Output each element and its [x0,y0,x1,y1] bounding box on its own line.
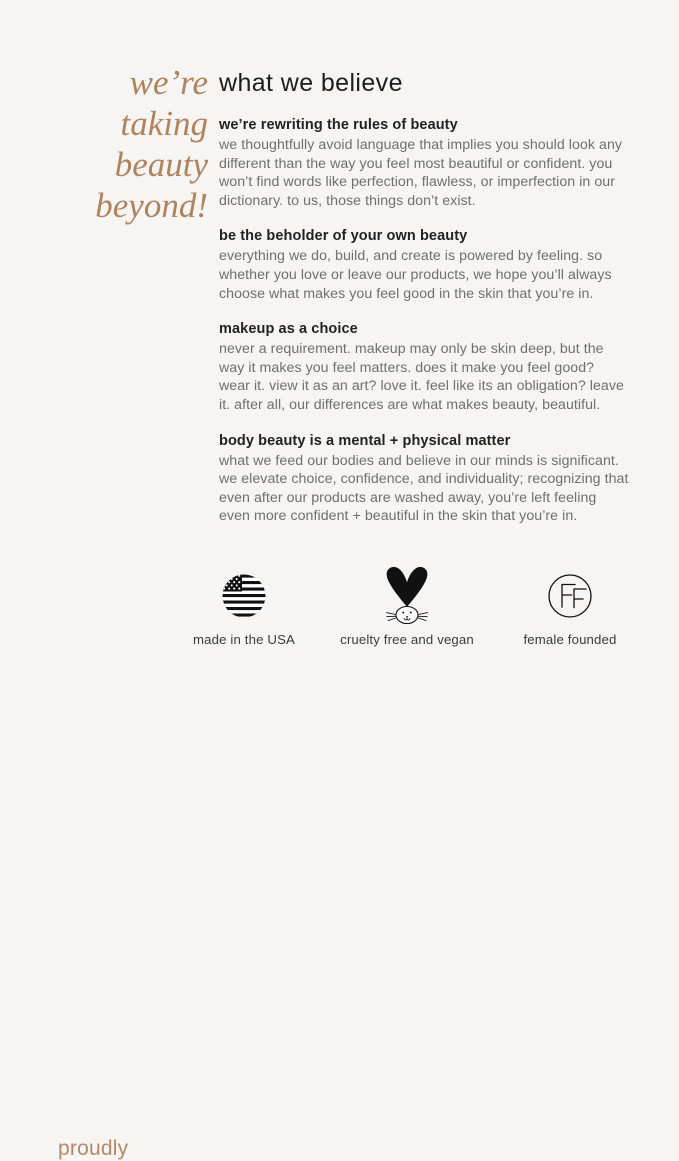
badge-cruelty-free-vegan: cruelty free and vegan [334,560,480,648]
beliefs-content: what we believe we’re rewriting the rule… [219,68,629,543]
belief-body: everything we do, build, and create is p… [219,247,629,303]
ff-monogram-icon [500,560,640,632]
belief-title: body beauty is a mental + physical matte… [219,432,629,451]
belief-body: what we feed our bodies and believe in o… [219,452,629,526]
belief-body: never a requirement. makeup may only be … [219,340,629,414]
brand-values-page: we’re taking beauty beyond! what we beli… [0,0,679,679]
belief-block: be the beholder of your own beauty every… [219,227,629,303]
brand-headline: we’re taking beauty beyond! [30,62,208,226]
proudly-label: proudly [58,1137,128,1161]
badge-made-in-usa: made in the USA [173,560,315,648]
bunny-heart-icon [334,560,480,632]
brand-headline-line-1: we’re [30,62,208,103]
usa-flag-circle-icon [173,560,315,632]
brand-headline-line-2: taking [30,103,208,144]
proudly-badge-row: proudly [0,560,679,670]
badge-caption: made in the USA [173,632,315,648]
belief-block: body beauty is a mental + physical matte… [219,432,629,526]
belief-title: makeup as a choice [219,320,629,339]
brand-headline-line-3: beauty [30,144,208,185]
belief-body: we thoughtfully avoid language that impl… [219,136,629,210]
belief-title: be the beholder of your own beauty [219,227,629,246]
belief-title: we’re rewriting the rules of beauty [219,116,629,135]
belief-block: makeup as a choice never a requirement. … [219,320,629,414]
page-title: what we believe [219,68,629,98]
badge-caption: cruelty free and vegan [334,632,480,648]
brand-headline-line-4: beyond! [30,185,208,226]
badge-female-founded: female founded [500,560,640,648]
belief-block: we’re rewriting the rules of beauty we t… [219,116,629,210]
badge-caption: female founded [500,632,640,648]
